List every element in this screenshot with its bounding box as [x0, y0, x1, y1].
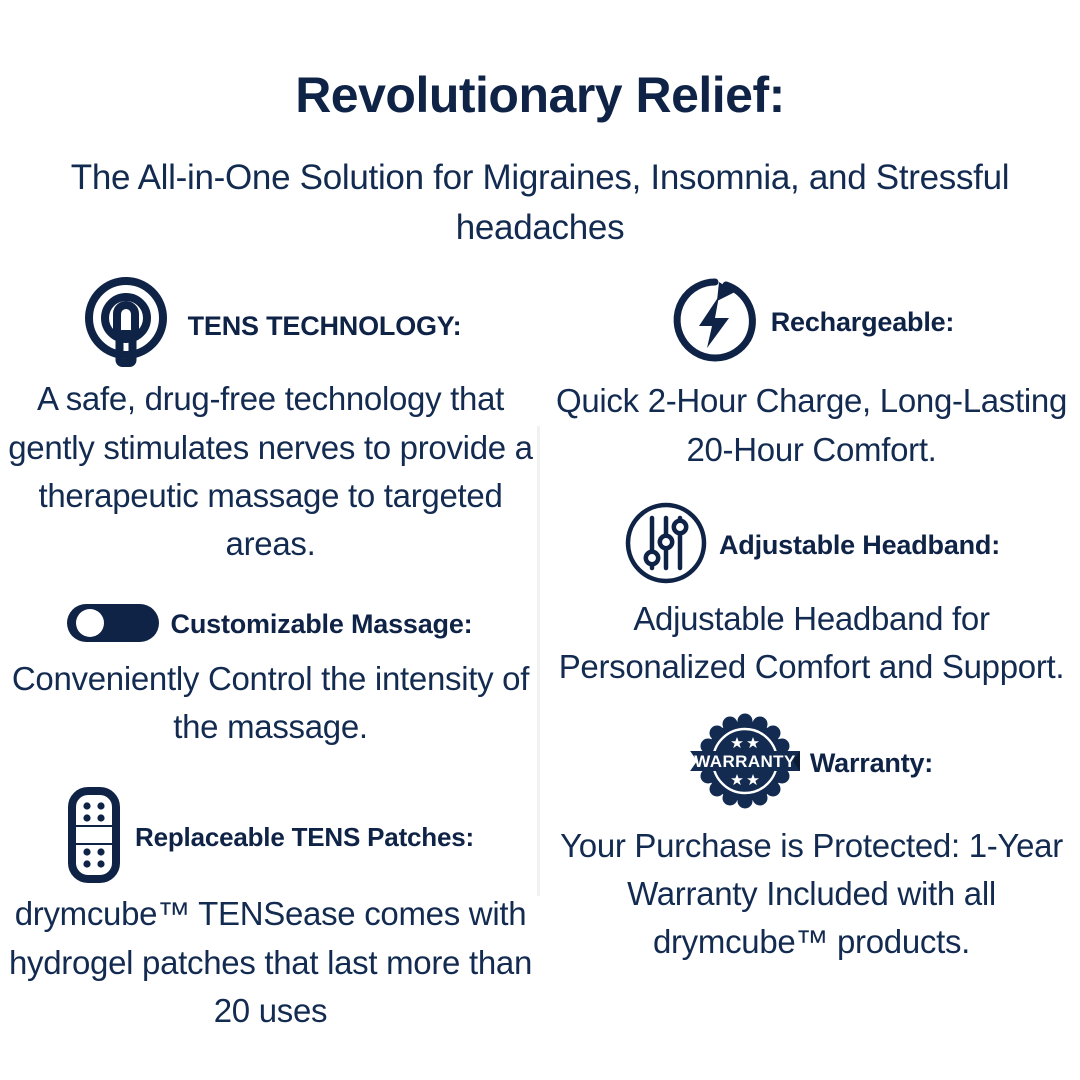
feature-body: drymcube™ TENSease comes with hydrogel p… — [2, 890, 539, 1035]
feature-body: Conveniently Control the intensity of th… — [2, 655, 539, 751]
feature-tens-technology: TENS TECHNOLOGY: A safe, drug-free techn… — [2, 266, 539, 568]
warranty-seal-icon: WARRANTY — [690, 711, 800, 816]
feature-heading-row: Adjustable Headband: — [547, 500, 1076, 591]
feature-heading-row: Rechargeable: — [547, 274, 1076, 371]
feature-heading-row: Replaceable TENS Patches: — [0, 787, 539, 888]
right-column: Rechargeable: Quick 2-Hour Charge, Long-… — [539, 266, 1076, 1035]
feature-heading-row: WARRANTY Warranty: — [547, 711, 1076, 816]
recharge-bolt-icon — [669, 274, 761, 371]
feature-title: Replaceable TENS Patches: — [135, 822, 474, 853]
feature-adjustable-headband: Adjustable Headband: Adjustable Headband… — [547, 500, 1076, 691]
feature-title: Warranty: — [810, 748, 933, 779]
header: Revolutionary Relief: The All-in-One Sol… — [0, 0, 1080, 252]
feature-warranty: WARRANTY Warranty: Your Purchase is Prot… — [547, 711, 1076, 967]
feature-title: Customizable Massage: — [171, 609, 473, 640]
tens-signal-icon — [74, 272, 178, 381]
page-subtitle: The All-in-One Solution for Migraines, I… — [0, 153, 1080, 252]
toggle-switch-icon[interactable] — [65, 598, 161, 651]
warranty-badge-label: WARRANTY — [694, 752, 796, 771]
feature-title: TENS TECHNOLOGY: — [188, 311, 462, 342]
feature-replaceable-patches: Replaceable TENS Patches: drymcube™ TENS… — [2, 787, 539, 1035]
feature-body: Adjustable Headband for Personalized Com… — [547, 595, 1076, 691]
bandage-patch-icon — [63, 787, 125, 888]
feature-body: A safe, drug-free technology that gently… — [2, 375, 539, 568]
feature-heading-row: TENS TECHNOLOGY: — [0, 272, 539, 381]
feature-heading-row: Customizable Massage: — [0, 598, 539, 651]
sliders-circle-icon — [623, 500, 709, 591]
promo-feature-page: Revolutionary Relief: The All-in-One Sol… — [0, 0, 1080, 1080]
page-title: Revolutionary Relief: — [0, 68, 1080, 123]
feature-columns: TENS TECHNOLOGY: A safe, drug-free techn… — [0, 266, 1080, 1035]
feature-title: Rechargeable: — [771, 307, 954, 338]
feature-body: Quick 2-Hour Charge, Long-Lasting 20-Hou… — [547, 377, 1076, 473]
feature-body: Your Purchase is Protected: 1-Year Warra… — [547, 822, 1076, 967]
left-column: TENS TECHNOLOGY: A safe, drug-free techn… — [2, 266, 539, 1035]
feature-customizable-massage: Customizable Massage: Conveniently Contr… — [2, 598, 539, 751]
feature-title: Adjustable Headband: — [719, 530, 1000, 561]
feature-rechargeable: Rechargeable: Quick 2-Hour Charge, Long-… — [547, 266, 1076, 473]
